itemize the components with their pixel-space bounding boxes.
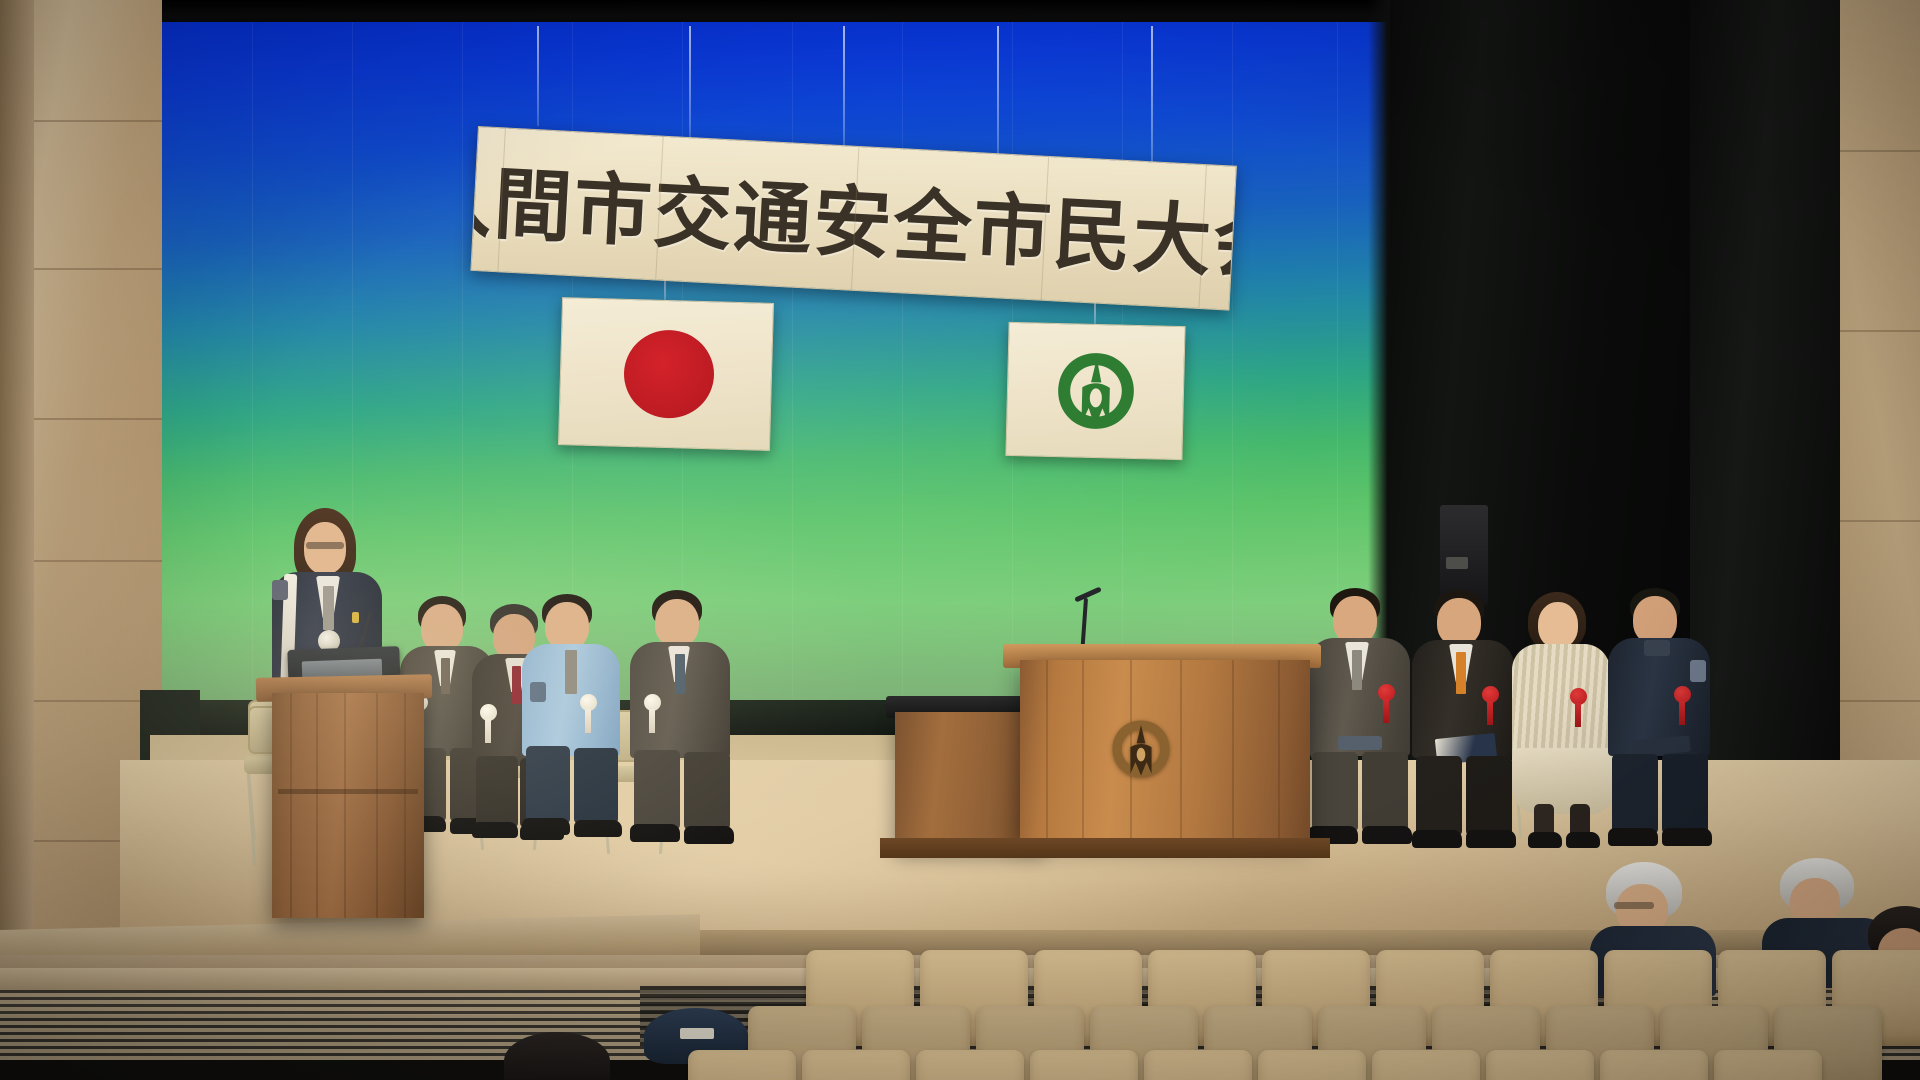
audience-seat[interactable] [1258,1050,1366,1080]
torso [1512,644,1610,758]
banner-wire-4 [997,26,999,168]
audience-seat[interactable] [1486,1050,1594,1080]
podium-city-emblem [1110,718,1172,780]
held-papers [1338,736,1382,750]
shoe [684,826,734,844]
head [545,602,589,650]
rosette [1570,688,1587,705]
skirt [1512,748,1616,814]
banner-wire-2 [689,26,691,140]
speaker-lectern [272,693,424,918]
leg [1662,754,1708,834]
necktie [565,650,577,694]
necktie [441,658,450,694]
uniform-badge [1690,660,1706,682]
rosette [480,704,497,721]
head [1633,596,1677,644]
seated-guest-4 [1606,588,1726,850]
iruma-city-emblem-icon [1110,718,1172,780]
audience-seat[interactable] [802,1050,910,1080]
japan-flag [558,297,774,451]
head [1333,596,1377,644]
leg [684,752,730,830]
necktie [675,654,685,694]
seated-guest-1 [1306,588,1426,850]
necktie [323,586,334,630]
audience-seat[interactable] [1714,1050,1822,1080]
uniform-collar [1644,640,1670,656]
cap-logo [680,1028,714,1039]
shoe [1566,832,1600,848]
banner-wire-3 [843,26,845,154]
shoe [1662,828,1712,846]
hair [504,1032,610,1080]
rosette [1674,686,1691,703]
audience-seat[interactable] [1030,1050,1138,1080]
audience-seat[interactable] [1144,1050,1252,1080]
leg [634,750,680,830]
leg [1612,754,1658,834]
shoe [522,818,570,835]
iruma-city-emblem-icon [1051,347,1139,435]
rosette [644,694,661,711]
leg [1312,752,1358,832]
leg [526,746,570,824]
leg [574,748,618,824]
shoe [630,824,680,842]
head [421,604,463,652]
uniform-badge [530,682,546,702]
shoe [1362,826,1412,844]
stage-scene: 入間市交通安全市民大会 [0,0,1920,1080]
podium-base-plinth [880,838,1330,858]
audience-seat-row-front[interactable] [688,1050,1822,1080]
audience-seat[interactable] [916,1050,1024,1080]
rosette [580,694,597,711]
head [655,599,699,647]
leg [1416,756,1462,836]
head [1437,598,1481,646]
eyeglasses [306,542,344,549]
lectern-trim-band [278,789,418,794]
necktie [1352,650,1362,690]
necktie [1456,652,1466,694]
eyeglasses [1614,902,1654,909]
rosette [1482,686,1499,703]
audience-seat[interactable] [688,1050,796,1080]
audience-seat[interactable] [1372,1050,1480,1080]
leg [476,756,518,828]
left-wall-shadow [0,0,34,960]
lapel-pin [352,612,359,623]
seated-official-3 [520,594,632,842]
banner-wire-1 [537,26,539,126]
shoe [574,820,622,837]
shoe [1608,828,1658,846]
shoe [1528,832,1562,848]
hinomaru-disc [623,329,715,419]
iruma-city-flag [1005,322,1185,460]
audience-seat[interactable] [1600,1050,1708,1080]
banner-wire-5 [1151,26,1153,182]
shoe [472,822,518,838]
shoulder-badge [272,580,288,600]
head [1538,602,1578,648]
leg [1466,756,1512,836]
seated-official-4 [628,590,744,850]
leg [1362,752,1408,832]
rosette [1378,684,1395,701]
audience-member-5 [500,1032,620,1080]
shoe [1412,830,1462,848]
